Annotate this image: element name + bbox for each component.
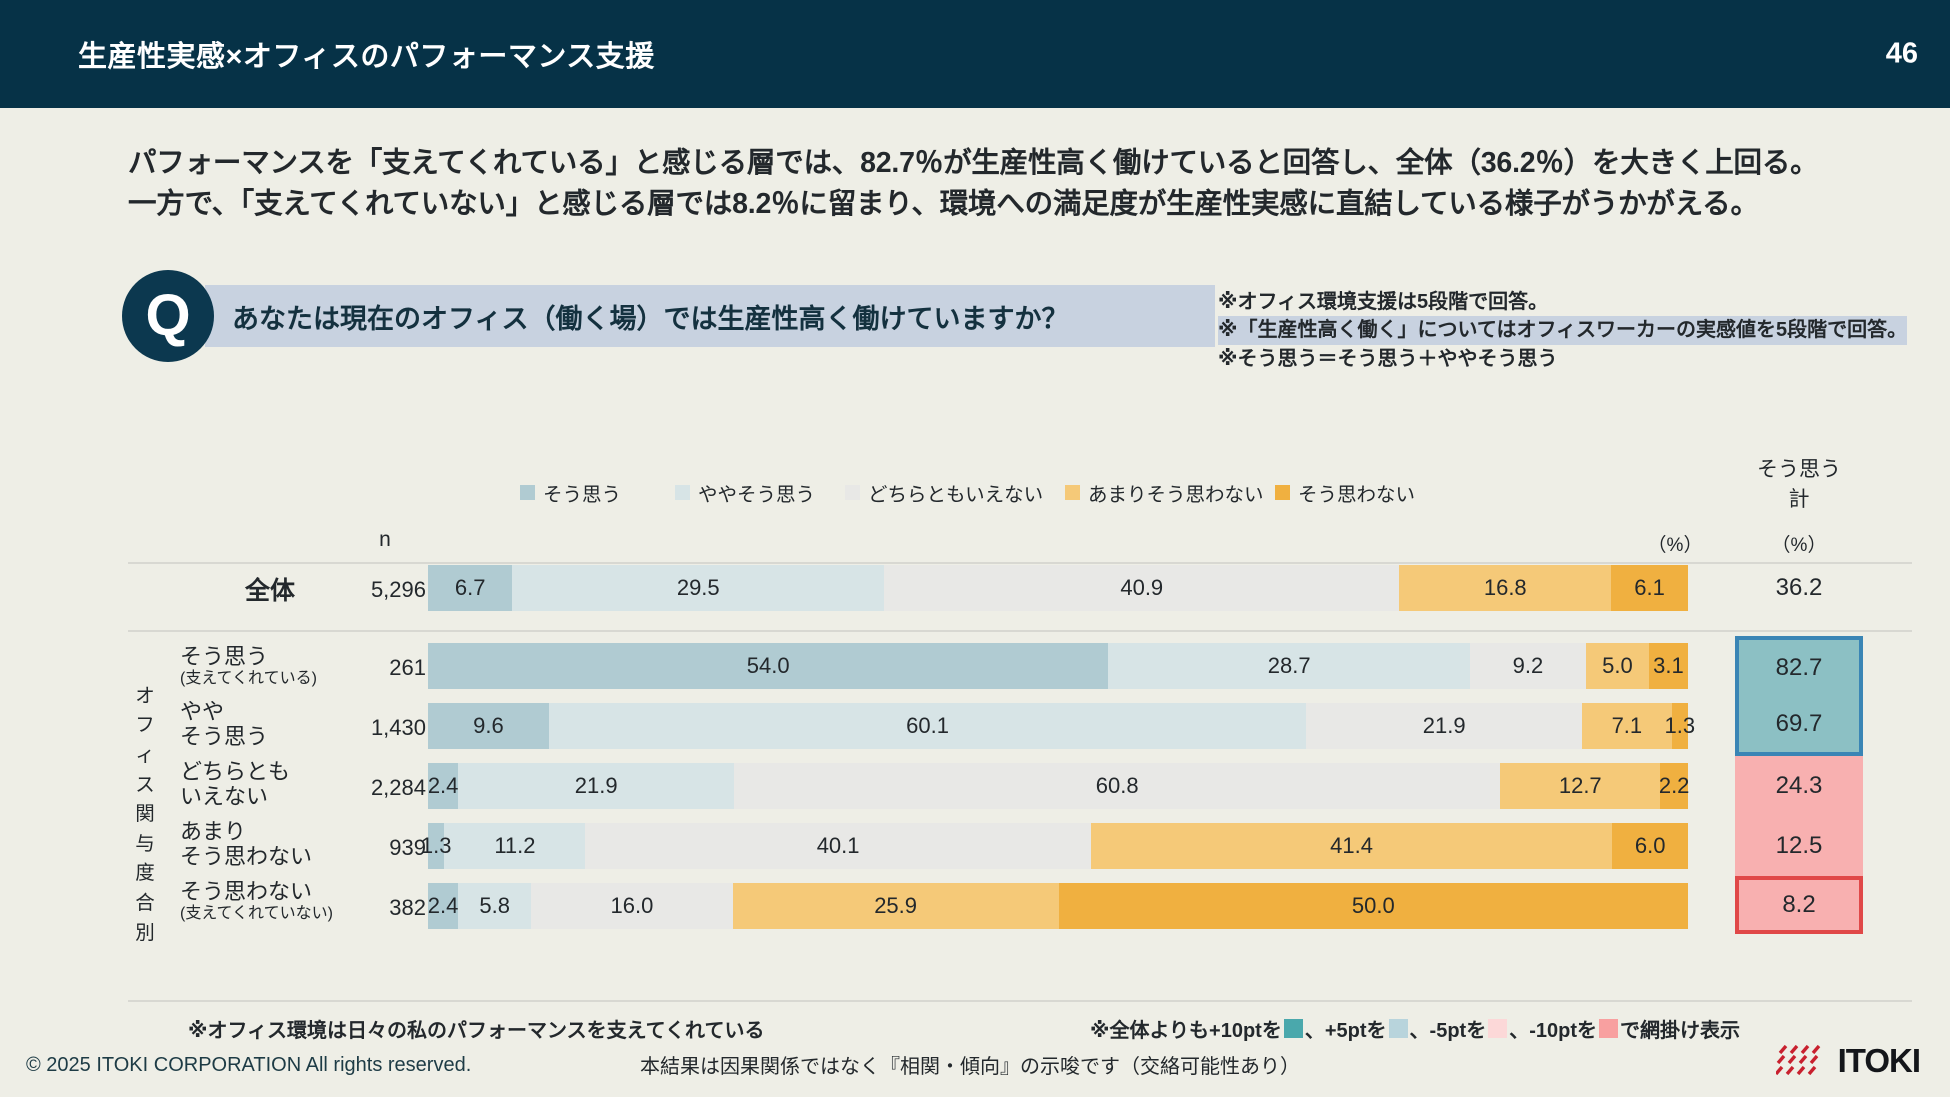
legend-swatch-icon [675,485,690,500]
bar-segment: 1.3 [428,823,444,869]
lead-paragraph: パフォーマンスを「支えてくれている」と感じる層では、82.7％が生産性高く働けて… [128,143,1888,225]
lead-line-1: パフォーマンスを「支えてくれている」と感じる層では、82.7％が生産性高く働けて… [128,143,1888,184]
percent-label-chart: （%） [1640,530,1710,557]
bar-segment: 9.2 [1470,643,1586,689]
footnote-swatch-icon [1284,1019,1303,1038]
chart-legend: そう思うややそう思うどちらともいえないあまりそう思わないそう思わない [520,478,1700,504]
question-text: あなたは現在のオフィス（働く場）では生産性高く働けていますか？ [232,285,1068,347]
bar-segment-value: 54.0 [747,653,790,679]
bar-segment: 40.9 [884,565,1399,611]
stacked-bar: 6.729.540.916.86.1 [428,565,1688,611]
stacked-bar: 2.421.960.812.72.2 [428,763,1688,809]
axis-label-vertical: オフィス関与度合別 [128,640,162,990]
total-column-header-line2: 計 [1735,485,1863,515]
stacked-bar: 1.311.240.141.46.0 [428,823,1688,869]
legend-swatch-icon [845,485,860,500]
row-n-value: 5,296 [320,577,426,603]
bar-segment: 5.0 [1586,643,1649,689]
row-n-value: 939 [320,835,426,861]
bar-segment-value: 25.9 [874,893,917,919]
bar-segment-value: 16.8 [1484,575,1527,601]
bar-segment: 60.1 [549,703,1306,749]
note-3: ※そう思う＝そう思う＋ややそう思う [1218,345,1948,373]
bar-segment-value: 9.2 [1513,653,1544,679]
legend-label: そう思う [543,478,621,507]
question-badge-letter: Q [145,287,190,345]
legend-label: そう思わない [1298,478,1415,507]
bar-segment-value: 1.3 [421,833,452,859]
page-title: 生産性実感×オフィスのパフォーマンス支援 [78,33,655,75]
axis-label-char: 別 [135,919,155,949]
slide-header: 生産性実感×オフィスのパフォーマンス支援 46 [0,0,1950,108]
bar-segment-value: 21.9 [1423,713,1466,739]
bar-segment-value: 29.5 [677,575,720,601]
bar-segment-value: 2.2 [1659,773,1690,799]
footnote-text-part: 、-10ptを [1509,1014,1597,1043]
axis-label-char: 度 [135,859,155,889]
bar-segment: 21.9 [1306,703,1582,749]
bar-segment: 6.1 [1611,565,1688,611]
footnote-text-part: ※全体よりも+10ptを [1090,1014,1282,1043]
bar-segment-value: 2.4 [428,893,459,919]
legend-item-2: どちらともいえない [845,478,1043,507]
total-value-cell: 24.3 [1735,756,1863,816]
bar-segment-value: 28.7 [1268,653,1311,679]
bar-segment: 16.8 [1399,565,1611,611]
footnote-left: ※オフィス環境は日々の私のパフォーマンスを支えてくれている [188,1014,764,1043]
axis-label-char: 与 [135,830,155,860]
bar-segment: 54.0 [428,643,1108,689]
bar-segment: 29.5 [512,565,884,611]
footnote-center: 本結果は因果関係ではなく『相関・傾向』の示唆です（交絡可能性あり） [640,1050,1300,1079]
note-1: ※オフィス環境支援は5段階で回答。 [1218,288,1948,316]
bar-segment: 2.4 [428,763,458,809]
footnote-swatch-icon [1488,1019,1507,1038]
itoki-logo-mark-icon [1776,1044,1830,1078]
total-value-cell: 36.2 [1735,565,1863,611]
bar-segment-value: 60.1 [906,713,949,739]
legend-item-1: ややそう思う [675,478,815,507]
total-value-cell: 8.2 [1735,876,1863,934]
legend-swatch-icon [1275,485,1290,500]
legend-item-0: そう思う [520,478,621,507]
bar-segment: 6.0 [1612,823,1688,869]
bar-segment: 12.7 [1500,763,1660,809]
bar-segment: 16.0 [531,883,732,929]
row-n-value: 1,430 [320,715,426,741]
percent-label-total: （%） [1735,530,1863,557]
bar-segment: 21.9 [458,763,734,809]
bar-segment: 11.2 [444,823,585,869]
bar-segment-value: 60.8 [1096,773,1139,799]
divider-middle [128,630,1912,632]
itoki-logo-text: ITOKI [1838,1042,1920,1080]
bar-segment-value: 7.1 [1612,713,1643,739]
footnote-swatch-icon [1599,1019,1618,1038]
axis-label-char: オ [135,682,155,712]
bar-segment: 9.6 [428,703,549,749]
slide-root: 生産性実感×オフィスのパフォーマンス支援 46 パフォーマンスを「支えてくれてい… [0,0,1950,1097]
axis-label-char: 合 [135,889,155,919]
stacked-bar: 2.45.816.025.950.0 [428,883,1688,929]
bar-segment: 40.1 [585,823,1090,869]
bar-segment-value: 21.9 [575,773,618,799]
bar-segment: 2.4 [428,883,458,929]
bar-segment: 2.2 [1660,763,1688,809]
legend-label: ややそう思う [698,478,815,507]
axis-label-char: ス [135,771,155,801]
bar-segment: 5.8 [458,883,531,929]
row-n-value: 2,284 [320,775,426,801]
row-n-value: 261 [320,655,426,681]
bar-segment: 50.0 [1059,883,1688,929]
bar-segment-value: 6.7 [455,575,486,601]
bar-segment-value: 3.1 [1653,653,1684,679]
bar-segment: 1.3 [1672,703,1688,749]
itoki-logo: ITOKI [1776,1042,1920,1080]
stacked-bar: 54.028.79.25.03.1 [428,643,1688,689]
bar-segment-value: 11.2 [494,833,535,859]
bar-segment: 60.8 [734,763,1500,809]
question-badge: Q [122,270,214,362]
total-column-header: そう思う 計 [1735,455,1863,516]
bar-segment-value: 40.9 [1120,575,1163,601]
bar-segment-value: 40.1 [817,833,860,859]
bar-segment: 3.1 [1649,643,1688,689]
row-n-value: 382 [320,895,426,921]
bar-segment: 28.7 [1108,643,1470,689]
axis-label-char: 関 [135,800,155,830]
bar-segment-value: 6.1 [1634,575,1665,601]
footnote-text-part: 、+5ptを [1305,1014,1387,1043]
axis-label-char: ィ [135,741,155,771]
bar-segment-value: 12.7 [1559,773,1602,799]
bar-segment: 6.7 [428,565,512,611]
legend-label: あまりそう思わない [1088,478,1264,507]
bar-segment-value: 2.4 [428,773,459,799]
bar-segment: 41.4 [1091,823,1613,869]
bar-segment-value: 5.8 [479,893,510,919]
bar-segment-value: 41.4 [1330,833,1373,859]
legend-swatch-icon [520,485,535,500]
n-column-header: n [345,528,425,552]
bar-segment-value: 6.0 [1635,833,1666,859]
axis-label-char: フ [135,711,155,741]
divider-bottom [128,1000,1912,1002]
stacked-bar: 9.660.121.97.11.3 [428,703,1688,749]
total-value-cell: 82.7 [1735,636,1863,696]
total-value-cell: 69.7 [1735,696,1863,756]
bar-segment-value: 5.0 [1602,653,1633,679]
bar-segment-value: 9.6 [473,713,504,739]
legend-swatch-icon [1065,485,1080,500]
legend-item-3: あまりそう思わない [1065,478,1264,507]
bar-segment-value: 16.0 [610,893,653,919]
bar-segment: 7.1 [1582,703,1671,749]
footnote-swatch-icon [1389,1019,1408,1038]
lead-line-2: 一方で、「支えてくれていない」と感じる層では8.2％に留まり、環境への満足度が生… [128,184,1888,225]
page-number: 46 [1886,38,1918,71]
bar-segment-value: 50.0 [1352,893,1395,919]
footnote-text-part: で網掛け表示 [1620,1014,1740,1043]
copyright-text: © 2025 ITOKI CORPORATION All rights rese… [26,1054,471,1077]
notes-block: ※オフィス環境支援は5段階で回答。 ※「生産性高く働く」についてはオフィスワーカ… [1218,288,1948,373]
total-value-cell: 12.5 [1735,816,1863,876]
note-2: ※「生産性高く働く」についてはオフィスワーカーの実感値を5段階で回答。 [1218,316,1907,344]
divider-top [128,562,1912,564]
footnote-text-part: 、-5ptを [1410,1014,1487,1043]
legend-item-4: そう思わない [1275,478,1415,507]
bar-segment: 25.9 [733,883,1059,929]
bar-segment-value: 1.3 [1664,713,1695,739]
legend-label: どちらともいえない [868,478,1043,507]
footnote-shading-legend: ※全体よりも+10ptを、+5ptを、-5ptを、-10ptをで網掛け表示 [1090,1014,1740,1043]
total-column-header-line1: そう思う [1735,455,1863,485]
